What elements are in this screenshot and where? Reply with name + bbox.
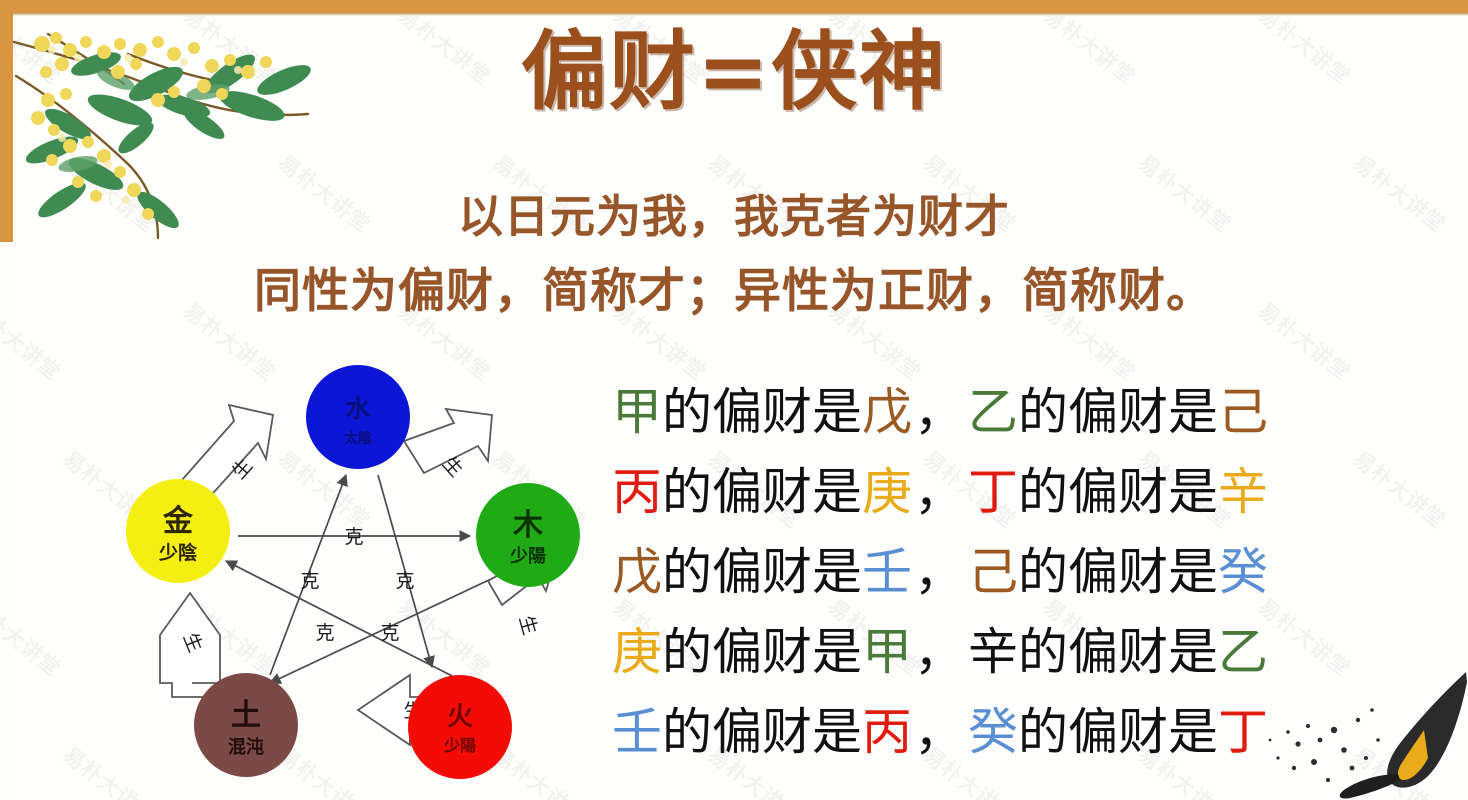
stem-target: 戊 bbox=[862, 383, 912, 441]
wuxing-node-wood: 木 少陽 bbox=[476, 483, 580, 587]
stem-subject: 甲 bbox=[612, 383, 662, 441]
page-title: 偏财=侠神 bbox=[0, 26, 1468, 119]
stem-subject: 癸 bbox=[968, 703, 1018, 761]
rule-connector: 的偏财是 bbox=[662, 383, 862, 441]
rule-comma: ， bbox=[912, 623, 968, 681]
stem-target: 己 bbox=[1218, 383, 1268, 441]
wuxing-node-metal: 金 少陰 bbox=[126, 479, 230, 583]
rule-connector: 的偏财是 bbox=[1018, 703, 1218, 761]
stem-subject: 壬 bbox=[612, 703, 662, 761]
wuxing-diagram: 克 克 克 克 克 生 生 bbox=[110, 345, 600, 795]
rule-row: 庚的偏财是甲，辛的偏财是乙 bbox=[612, 612, 1412, 692]
frame-top-bar bbox=[0, 0, 1468, 13]
ke-label: 克 bbox=[315, 622, 334, 644]
node-sub-earth: 混沌 bbox=[228, 736, 264, 758]
wuxing-node-fire: 火 少陽 bbox=[408, 675, 512, 779]
stem-subject: 庚 bbox=[612, 623, 662, 681]
ke-label: 克 bbox=[395, 570, 414, 592]
node-glyph-fire: 火 bbox=[447, 702, 473, 732]
rule-connector: 的偏财是 bbox=[662, 463, 862, 521]
frame-top-hairline bbox=[0, 13, 1468, 16]
stem-subject: 戊 bbox=[612, 543, 662, 601]
stem-subject: 乙 bbox=[968, 383, 1018, 441]
bianchai-rules-list: 甲的偏财是戊，乙的偏财是己丙的偏财是庚，丁的偏财是辛戊的偏财是壬，己的偏财是癸庚… bbox=[612, 372, 1412, 772]
rule-connector: 的偏财是 bbox=[1018, 383, 1218, 441]
rule-comma: ， bbox=[912, 543, 968, 601]
rule-connector: 的偏财是 bbox=[662, 703, 862, 761]
rule-row: 壬的偏财是丙，癸的偏财是丁 bbox=[612, 692, 1412, 772]
stem-subject: 辛 bbox=[968, 623, 1018, 681]
wuxing-node-earth: 土 混沌 bbox=[194, 673, 298, 777]
node-sub-wood: 少陽 bbox=[509, 546, 546, 567]
rule-comma: ， bbox=[912, 703, 968, 761]
node-glyph-earth: 土 bbox=[231, 698, 261, 733]
node-glyph-water: 水 bbox=[345, 394, 371, 423]
stem-target: 辛 bbox=[1218, 463, 1268, 521]
sheng-label: 生 bbox=[515, 613, 541, 637]
stem-subject: 丙 bbox=[612, 463, 662, 521]
stem-target: 壬 bbox=[862, 543, 912, 601]
stem-target: 丁 bbox=[1218, 703, 1268, 761]
rule-row: 丙的偏财是庚，丁的偏财是辛 bbox=[612, 452, 1412, 532]
node-glyph-wood: 木 bbox=[512, 508, 543, 543]
node-sub-fire: 少陽 bbox=[443, 736, 476, 755]
overcoming-edges bbox=[226, 475, 508, 683]
rule-connector: 的偏财是 bbox=[662, 543, 862, 601]
ke-label: 克 bbox=[344, 526, 363, 548]
rule-connector: 的偏财是 bbox=[662, 623, 862, 681]
stem-target: 乙 bbox=[1218, 623, 1268, 681]
stem-target: 庚 bbox=[862, 463, 912, 521]
rule-row: 甲的偏财是戊，乙的偏财是己 bbox=[612, 372, 1412, 452]
rule-connector: 的偏财是 bbox=[1018, 623, 1218, 681]
stem-subject: 己 bbox=[968, 543, 1018, 601]
slide-canvas: 易朴大讲堂易朴大讲堂易朴大讲堂易朴大讲堂易朴大讲堂易朴大讲堂易朴大讲堂易朴大讲堂… bbox=[0, 0, 1468, 800]
rule-comma: ， bbox=[912, 383, 968, 441]
node-glyph-metal: 金 bbox=[162, 504, 194, 539]
rule-comma: ， bbox=[912, 463, 968, 521]
rule-row: 戊的偏财是壬，己的偏财是癸 bbox=[612, 532, 1412, 612]
stem-target: 丙 bbox=[862, 703, 912, 761]
rule-connector: 的偏财是 bbox=[1018, 543, 1218, 601]
rule-connector: 的偏财是 bbox=[1018, 463, 1218, 521]
ke-label: 克 bbox=[300, 570, 319, 592]
stem-target: 癸 bbox=[1218, 543, 1268, 601]
ke-label: 克 bbox=[380, 622, 399, 644]
subtitle-line-1: 以日元为我，我克者为财才 bbox=[0, 180, 1468, 245]
subtitle-line-2: 同性为偏财，简称才；异性为正财，简称财。 bbox=[0, 252, 1468, 321]
node-sub-water: 太陰 bbox=[344, 430, 373, 447]
wuxing-node-water: 水 太陰 bbox=[306, 365, 410, 469]
node-sub-metal: 少陰 bbox=[158, 541, 198, 564]
stem-subject: 丁 bbox=[968, 463, 1018, 521]
stem-target: 甲 bbox=[862, 623, 912, 681]
